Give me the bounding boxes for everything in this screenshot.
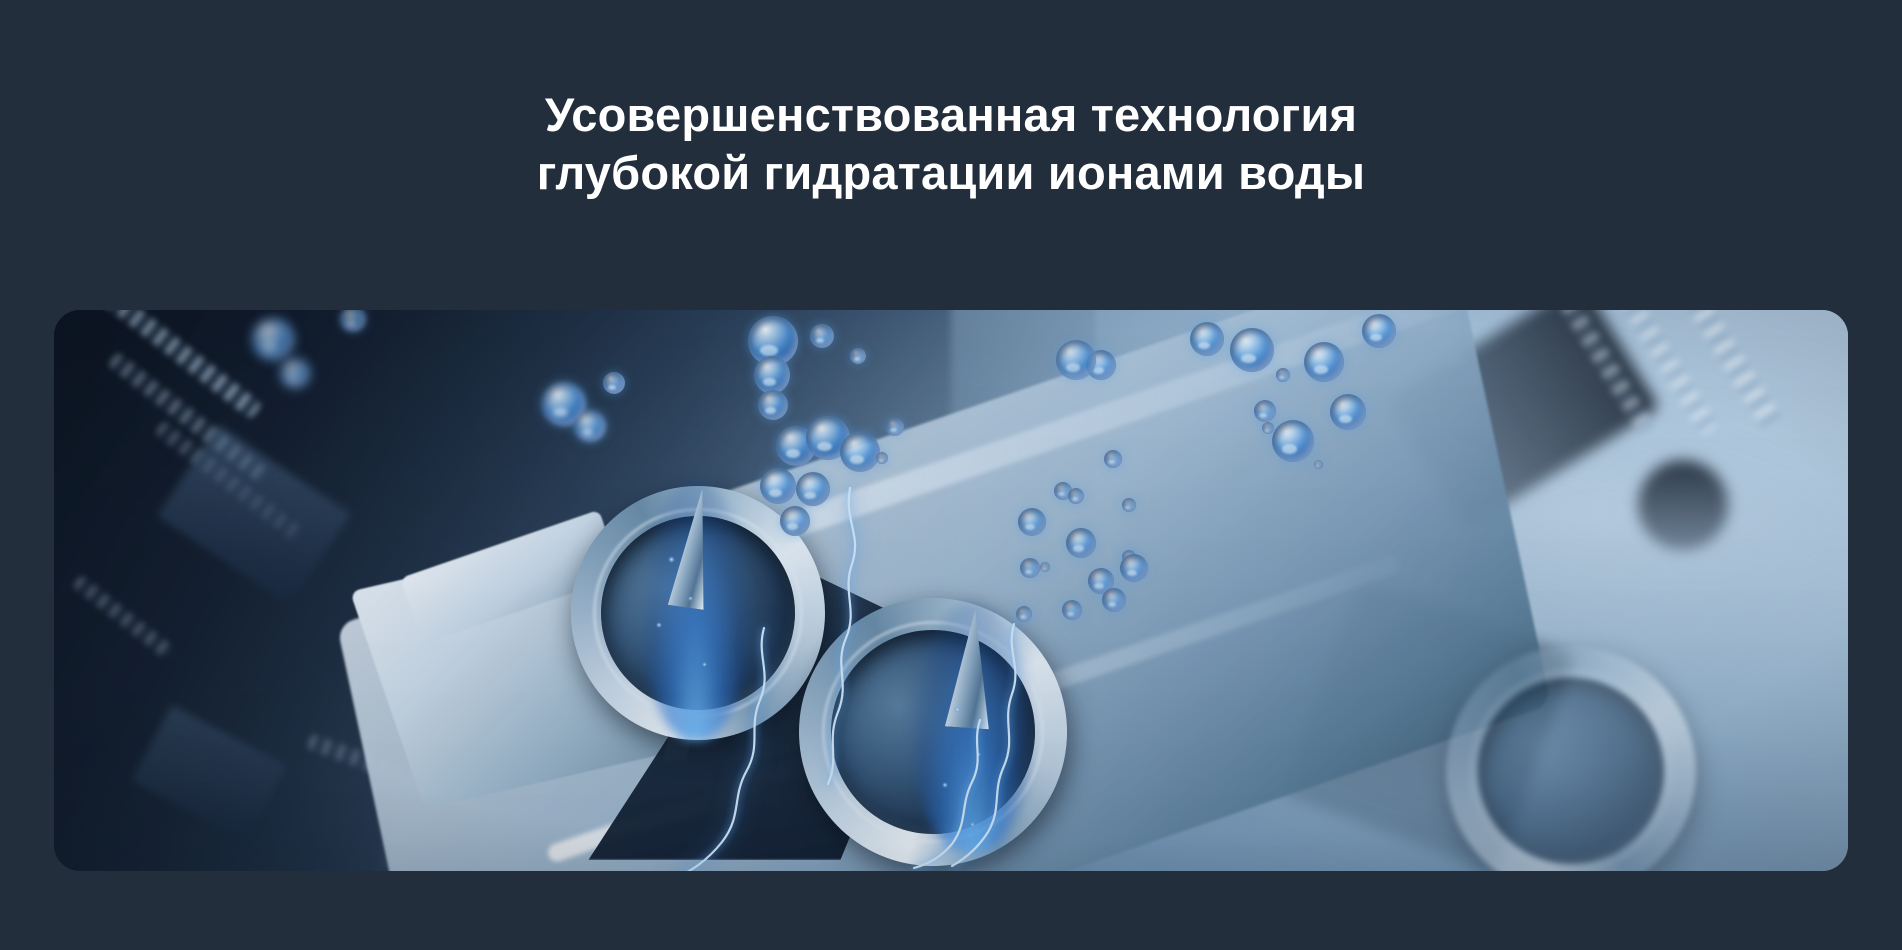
water-droplet [850, 348, 866, 364]
water-droplet [1254, 400, 1276, 422]
water-droplet [1262, 422, 1274, 434]
water-droplet [1304, 342, 1344, 382]
electric-arc-icon [884, 600, 1164, 870]
water-droplet [1104, 450, 1122, 468]
water-droplet [603, 372, 625, 394]
water-droplet [886, 418, 904, 436]
water-droplet [1362, 314, 1396, 348]
water-droplet [1190, 322, 1224, 356]
product-page: Усовершенствованная технология глубокой … [0, 0, 1902, 950]
page-title: Усовершенствованная технология глубокой … [0, 86, 1902, 202]
hero-image-scene [54, 310, 1848, 871]
water-droplet [1020, 558, 1040, 578]
water-droplet [780, 506, 810, 536]
water-droplet [840, 432, 880, 472]
water-droplet [574, 410, 606, 442]
water-droplet [876, 452, 888, 464]
water-droplet [1068, 488, 1084, 504]
water-droplet [1016, 606, 1032, 622]
water-droplet [1272, 420, 1314, 462]
hero-image [54, 310, 1848, 871]
water-droplet [758, 390, 788, 420]
water-droplet [1276, 368, 1290, 382]
water-droplet [1314, 460, 1323, 469]
water-droplet [1230, 328, 1274, 372]
water-droplet [1122, 498, 1136, 512]
water-droplet [754, 356, 790, 394]
water-droplet [1056, 340, 1096, 380]
water-droplet [760, 468, 796, 504]
water-droplet [1330, 394, 1366, 430]
water-droplet [1120, 554, 1148, 582]
water-droplet [1102, 588, 1126, 612]
water-droplet [796, 472, 830, 506]
water-droplet [1040, 562, 1050, 572]
board-slot [1638, 460, 1728, 550]
water-droplet [252, 318, 294, 360]
water-droplet [1062, 600, 1082, 620]
page-title-line-1: Усовершенствованная технология [0, 86, 1902, 144]
water-droplet [1066, 528, 1096, 558]
water-droplet [1018, 508, 1046, 536]
page-title-line-2: глубокой гидратации ионами воды [0, 144, 1902, 202]
water-droplet [810, 324, 834, 348]
electric-arc-icon [614, 460, 914, 871]
water-droplet [280, 358, 310, 388]
